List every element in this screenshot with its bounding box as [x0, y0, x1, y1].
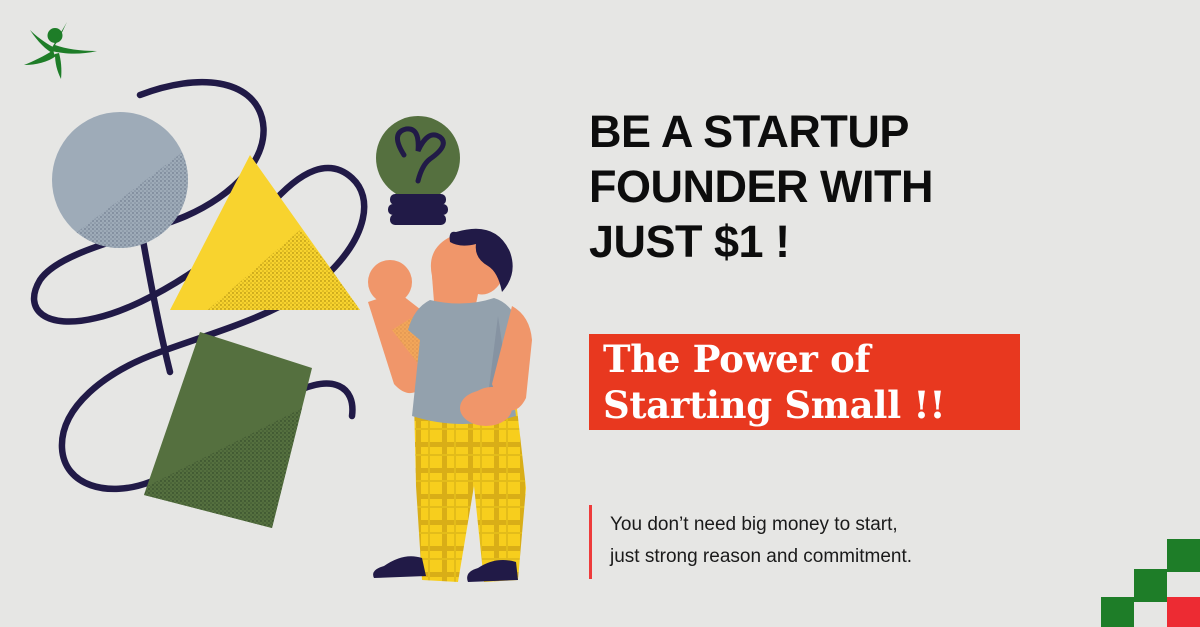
banner-line-1: The Power of — [603, 336, 1013, 382]
headline-line-2: FOUNDER WITH — [589, 159, 1059, 214]
headline-line-1: BE A STARTUP — [589, 104, 1059, 159]
body-line-2: just strong reason and commitment. — [610, 541, 1030, 573]
green-square-shape — [120, 332, 318, 540]
yellow-triangle-shape — [170, 155, 372, 320]
checker-square-middle — [1134, 569, 1167, 602]
subtitle-banner: The Power of Starting Small !! — [589, 334, 1020, 430]
lightbulb-icon — [376, 116, 460, 225]
decorative-illustration — [0, 0, 560, 627]
body-accent-bar — [589, 505, 592, 579]
headline-line-3: JUST $1 ! — [589, 214, 1059, 269]
person-illustration — [368, 229, 532, 582]
page-title: BE A STARTUP FOUNDER WITH JUST $1 ! — [589, 104, 1059, 269]
checker-decoration — [1101, 539, 1200, 627]
subtitle-banner-text: The Power of Starting Small !! — [603, 336, 1013, 428]
content-column: BE A STARTUP FOUNDER WITH JUST $1 ! The … — [589, 0, 1200, 627]
checker-square-bottom-right — [1167, 597, 1200, 627]
checker-square-top-right — [1167, 539, 1200, 572]
gray-circle-shape — [52, 112, 188, 248]
checker-square-bottom-left — [1101, 597, 1134, 627]
banner-line-2: Starting Small !! — [603, 382, 1013, 428]
body-text: You don’t need big money to start, just … — [610, 509, 1030, 573]
body-line-1: You don’t need big money to start, — [610, 509, 1030, 541]
poster-canvas: BE A STARTUP FOUNDER WITH JUST $1 ! The … — [0, 0, 1200, 627]
person-pants — [414, 400, 526, 582]
